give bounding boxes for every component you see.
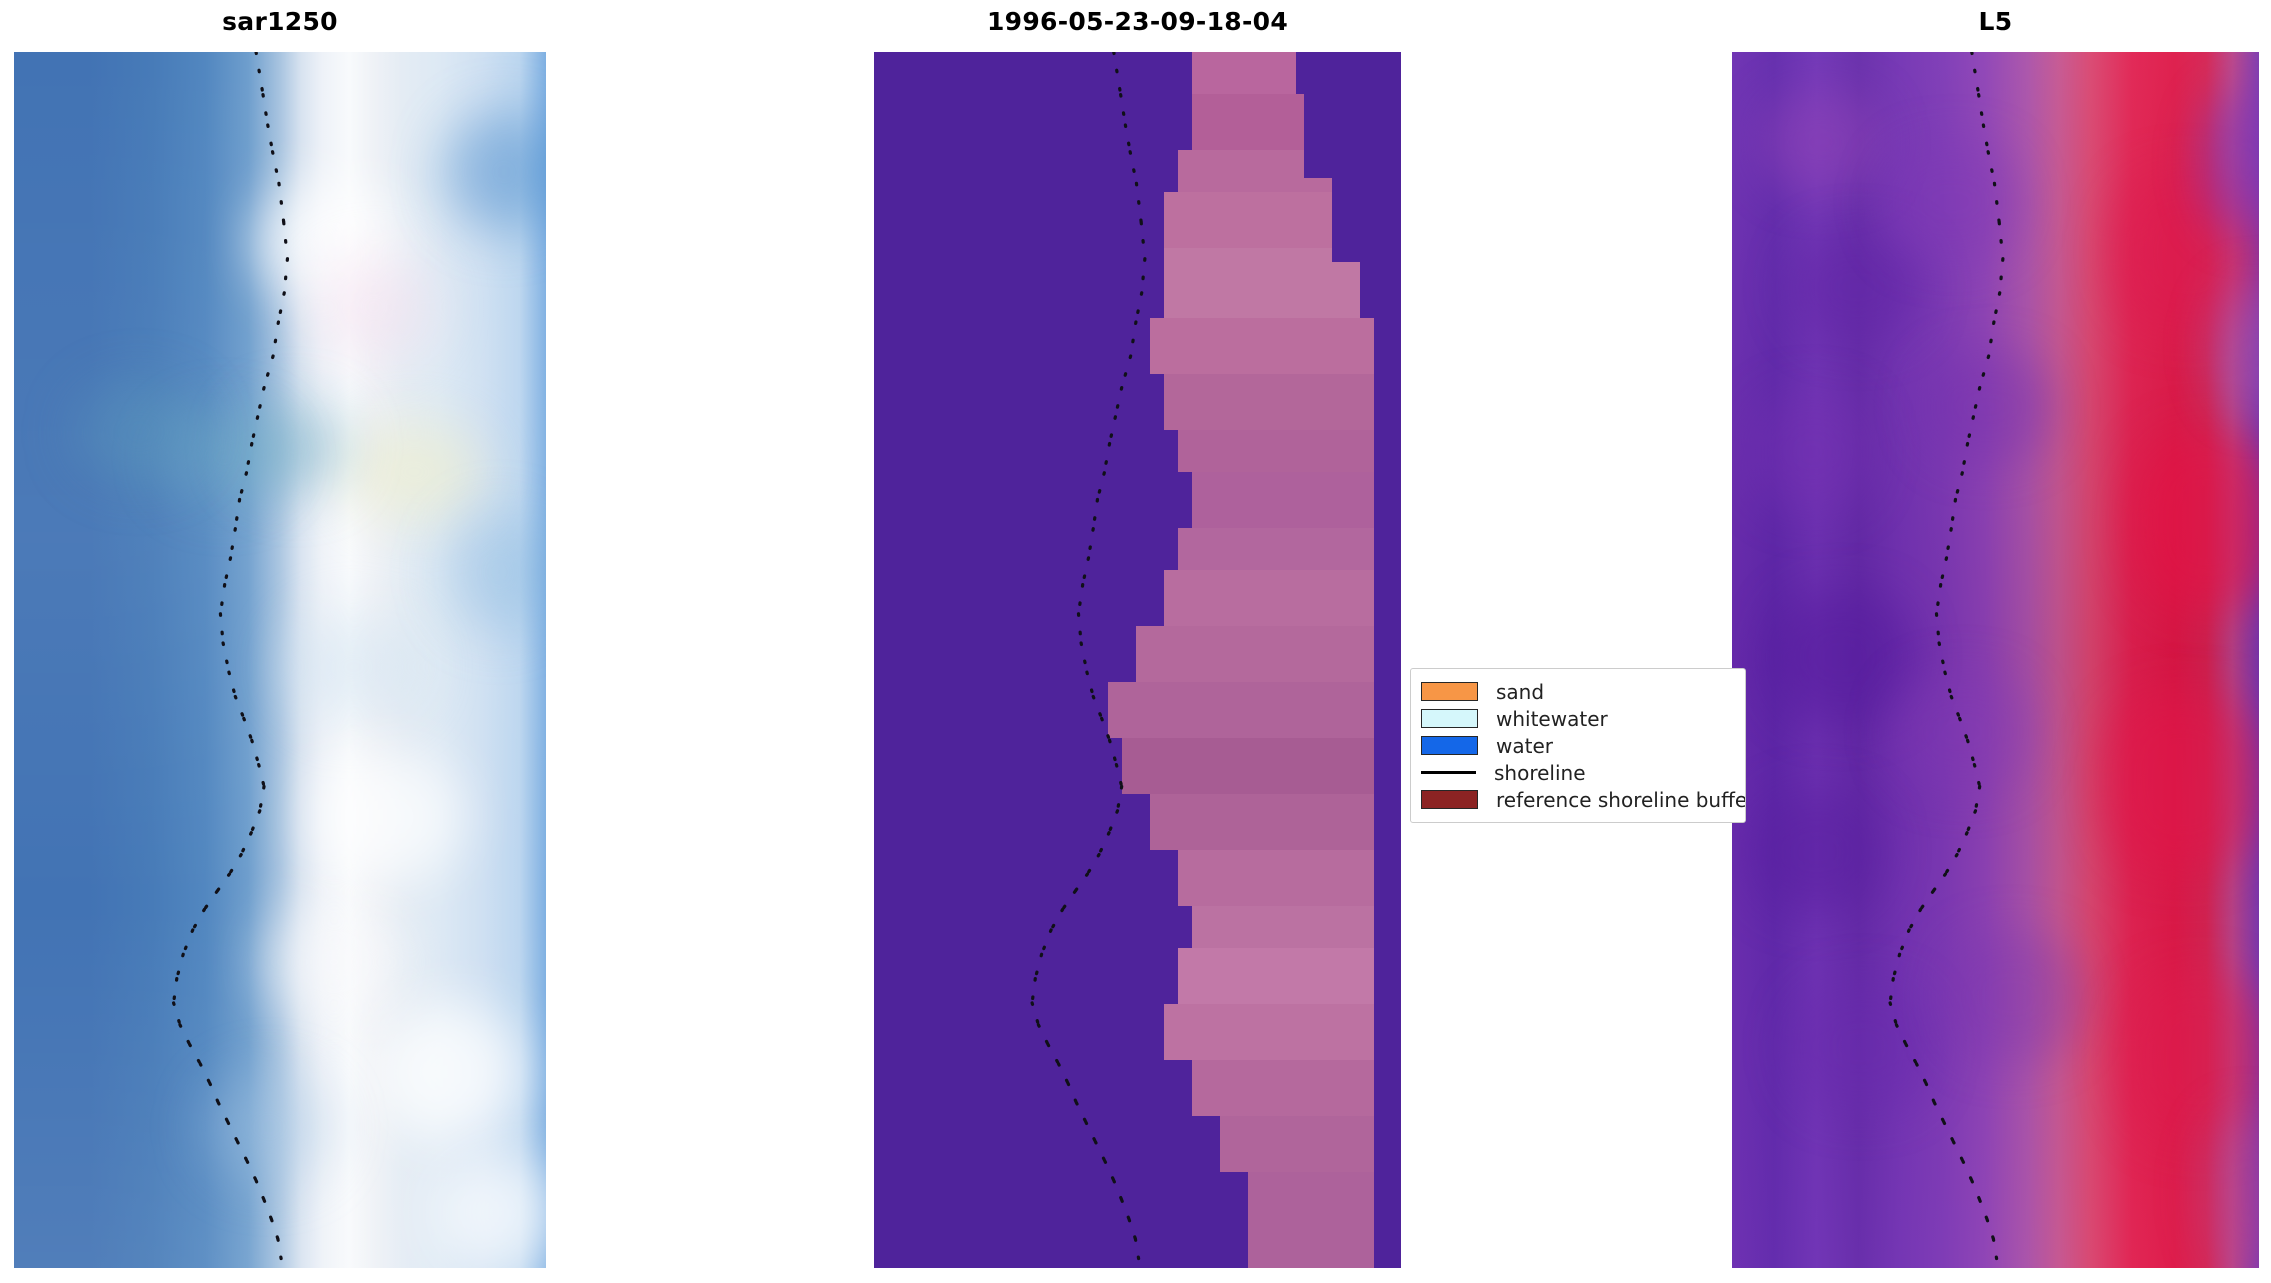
legend-label-whitewater: whitewater — [1496, 707, 1608, 731]
legend-label-shoreline: shoreline — [1494, 761, 1586, 785]
legend-swatch-reference-shoreline-buffer — [1421, 790, 1478, 809]
legend-label-sand: sand — [1496, 680, 1544, 704]
shoreline-overlay-2 — [1732, 52, 2259, 1268]
legend-swatch-sand — [1421, 682, 1478, 701]
legend-item-reference-shoreline-buffer[interactable]: reference shoreline buffer — [1421, 786, 1735, 813]
legend-label-water: water — [1496, 734, 1553, 758]
legend-item-water[interactable]: water — [1421, 732, 1735, 759]
image-panel-l5[interactable] — [1732, 52, 2259, 1268]
legend-box[interactable]: sand whitewater water shoreline referenc… — [1410, 668, 1746, 823]
legend-item-sand[interactable]: sand — [1421, 678, 1735, 705]
image-panel-classification[interactable] — [874, 52, 1401, 1268]
legend-swatch-whitewater — [1421, 709, 1478, 728]
panel-title-0: sar1250 — [14, 7, 546, 36]
panel-title-1: 1996-05-23-09-18-04 — [874, 7, 1401, 36]
legend-swatch-shoreline — [1421, 764, 1476, 781]
legend-item-whitewater[interactable]: whitewater — [1421, 705, 1735, 732]
legend-swatch-water — [1421, 736, 1478, 755]
image-panel-sar1250[interactable] — [14, 52, 546, 1268]
shoreline-overlay-0 — [14, 52, 546, 1268]
panel-title-2: L5 — [1732, 7, 2259, 36]
shoreline-overlay-1 — [874, 52, 1401, 1268]
legend-label-reference-shoreline-buffer: reference shoreline buffer — [1496, 788, 1746, 812]
legend-item-shoreline[interactable]: shoreline — [1421, 759, 1735, 786]
